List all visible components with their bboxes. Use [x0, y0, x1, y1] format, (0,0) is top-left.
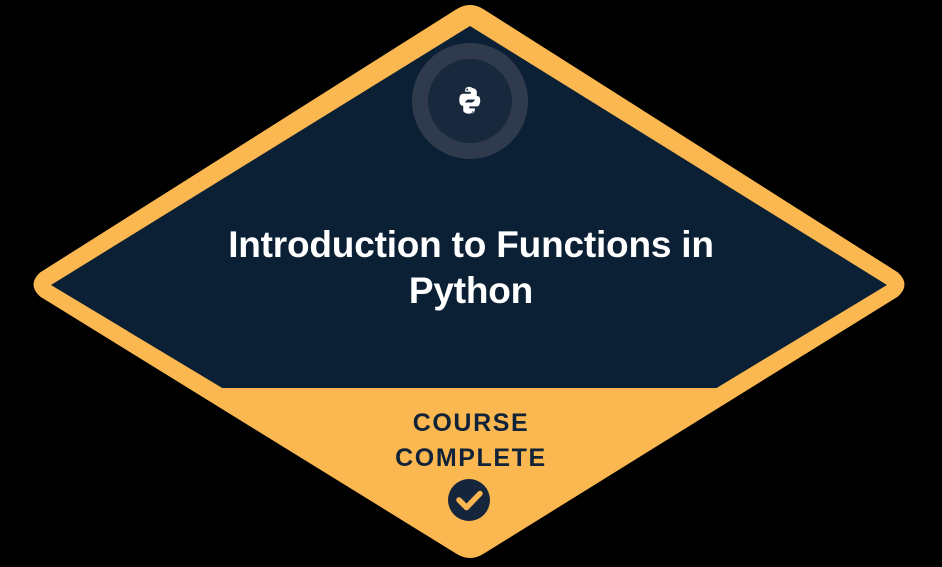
logo-rings	[412, 43, 528, 159]
logo-ring-inner	[428, 59, 512, 143]
course-completion-badge: Introduction to Functions in Python COUR…	[0, 0, 942, 567]
check-circle-icon	[448, 479, 490, 521]
check-circle-background	[448, 479, 490, 521]
badge-graphic	[0, 0, 942, 567]
